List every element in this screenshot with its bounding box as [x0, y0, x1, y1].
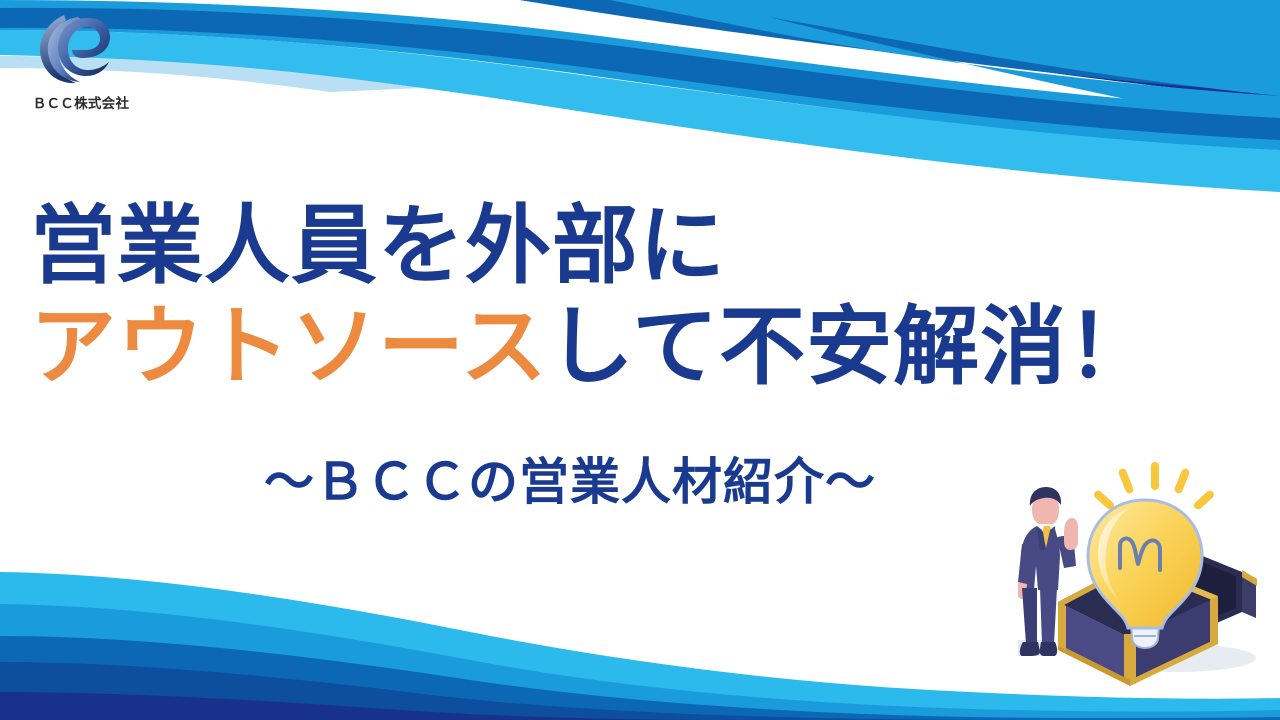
bcc-swirl-logo-icon — [28, 12, 120, 88]
company-logo[interactable]: ＢＣＣ株式会社 — [22, 12, 140, 114]
slide-canvas: ＢＣＣ株式会社 営業人員を外部に アウトソースして不安解消！ 〜ＢＣＣの営業人材… — [0, 0, 1280, 720]
headline-line-2: アウトソースして不安解消！ — [30, 297, 1260, 398]
wave-top-azure-shape — [610, 0, 1280, 130]
wave-top-azure2-shape — [0, 0, 1280, 150]
company-name-text: ＢＣＣ株式会社 — [22, 92, 140, 112]
person-hand-pointing — [1064, 518, 1078, 550]
illustration-businessman-treasure-chest — [1010, 462, 1280, 692]
headline-line-1: 営業人員を外部に — [30, 196, 1260, 297]
chest-trim-right-corner — [1210, 596, 1218, 646]
wave-bottom-navy-shape — [0, 692, 740, 720]
wave-top-blue-shape — [520, 0, 1280, 96]
person-leg-left — [1022, 588, 1037, 644]
wave-top-ribbon-shape — [0, 8, 1280, 140]
chest-trim-left-corner — [1058, 602, 1066, 650]
headline-highlight-text: アウトソース — [30, 297, 548, 397]
headline-block: 営業人員を外部に アウトソースして不安解消！ — [30, 196, 1260, 399]
wave-top-navy-shape — [520, 0, 1280, 98]
subtitle-text: 〜ＢＣＣの営業人材紹介〜 — [0, 442, 1140, 514]
headline-rest-text: して不安解消！ — [548, 297, 1154, 397]
wave-top-cyan-shape — [0, 30, 1280, 192]
person-shoe-left — [1020, 642, 1040, 656]
person-shoe-right — [1040, 642, 1057, 656]
wave-bottom-deep-shape — [0, 662, 1030, 720]
person-leg-right — [1040, 588, 1057, 644]
